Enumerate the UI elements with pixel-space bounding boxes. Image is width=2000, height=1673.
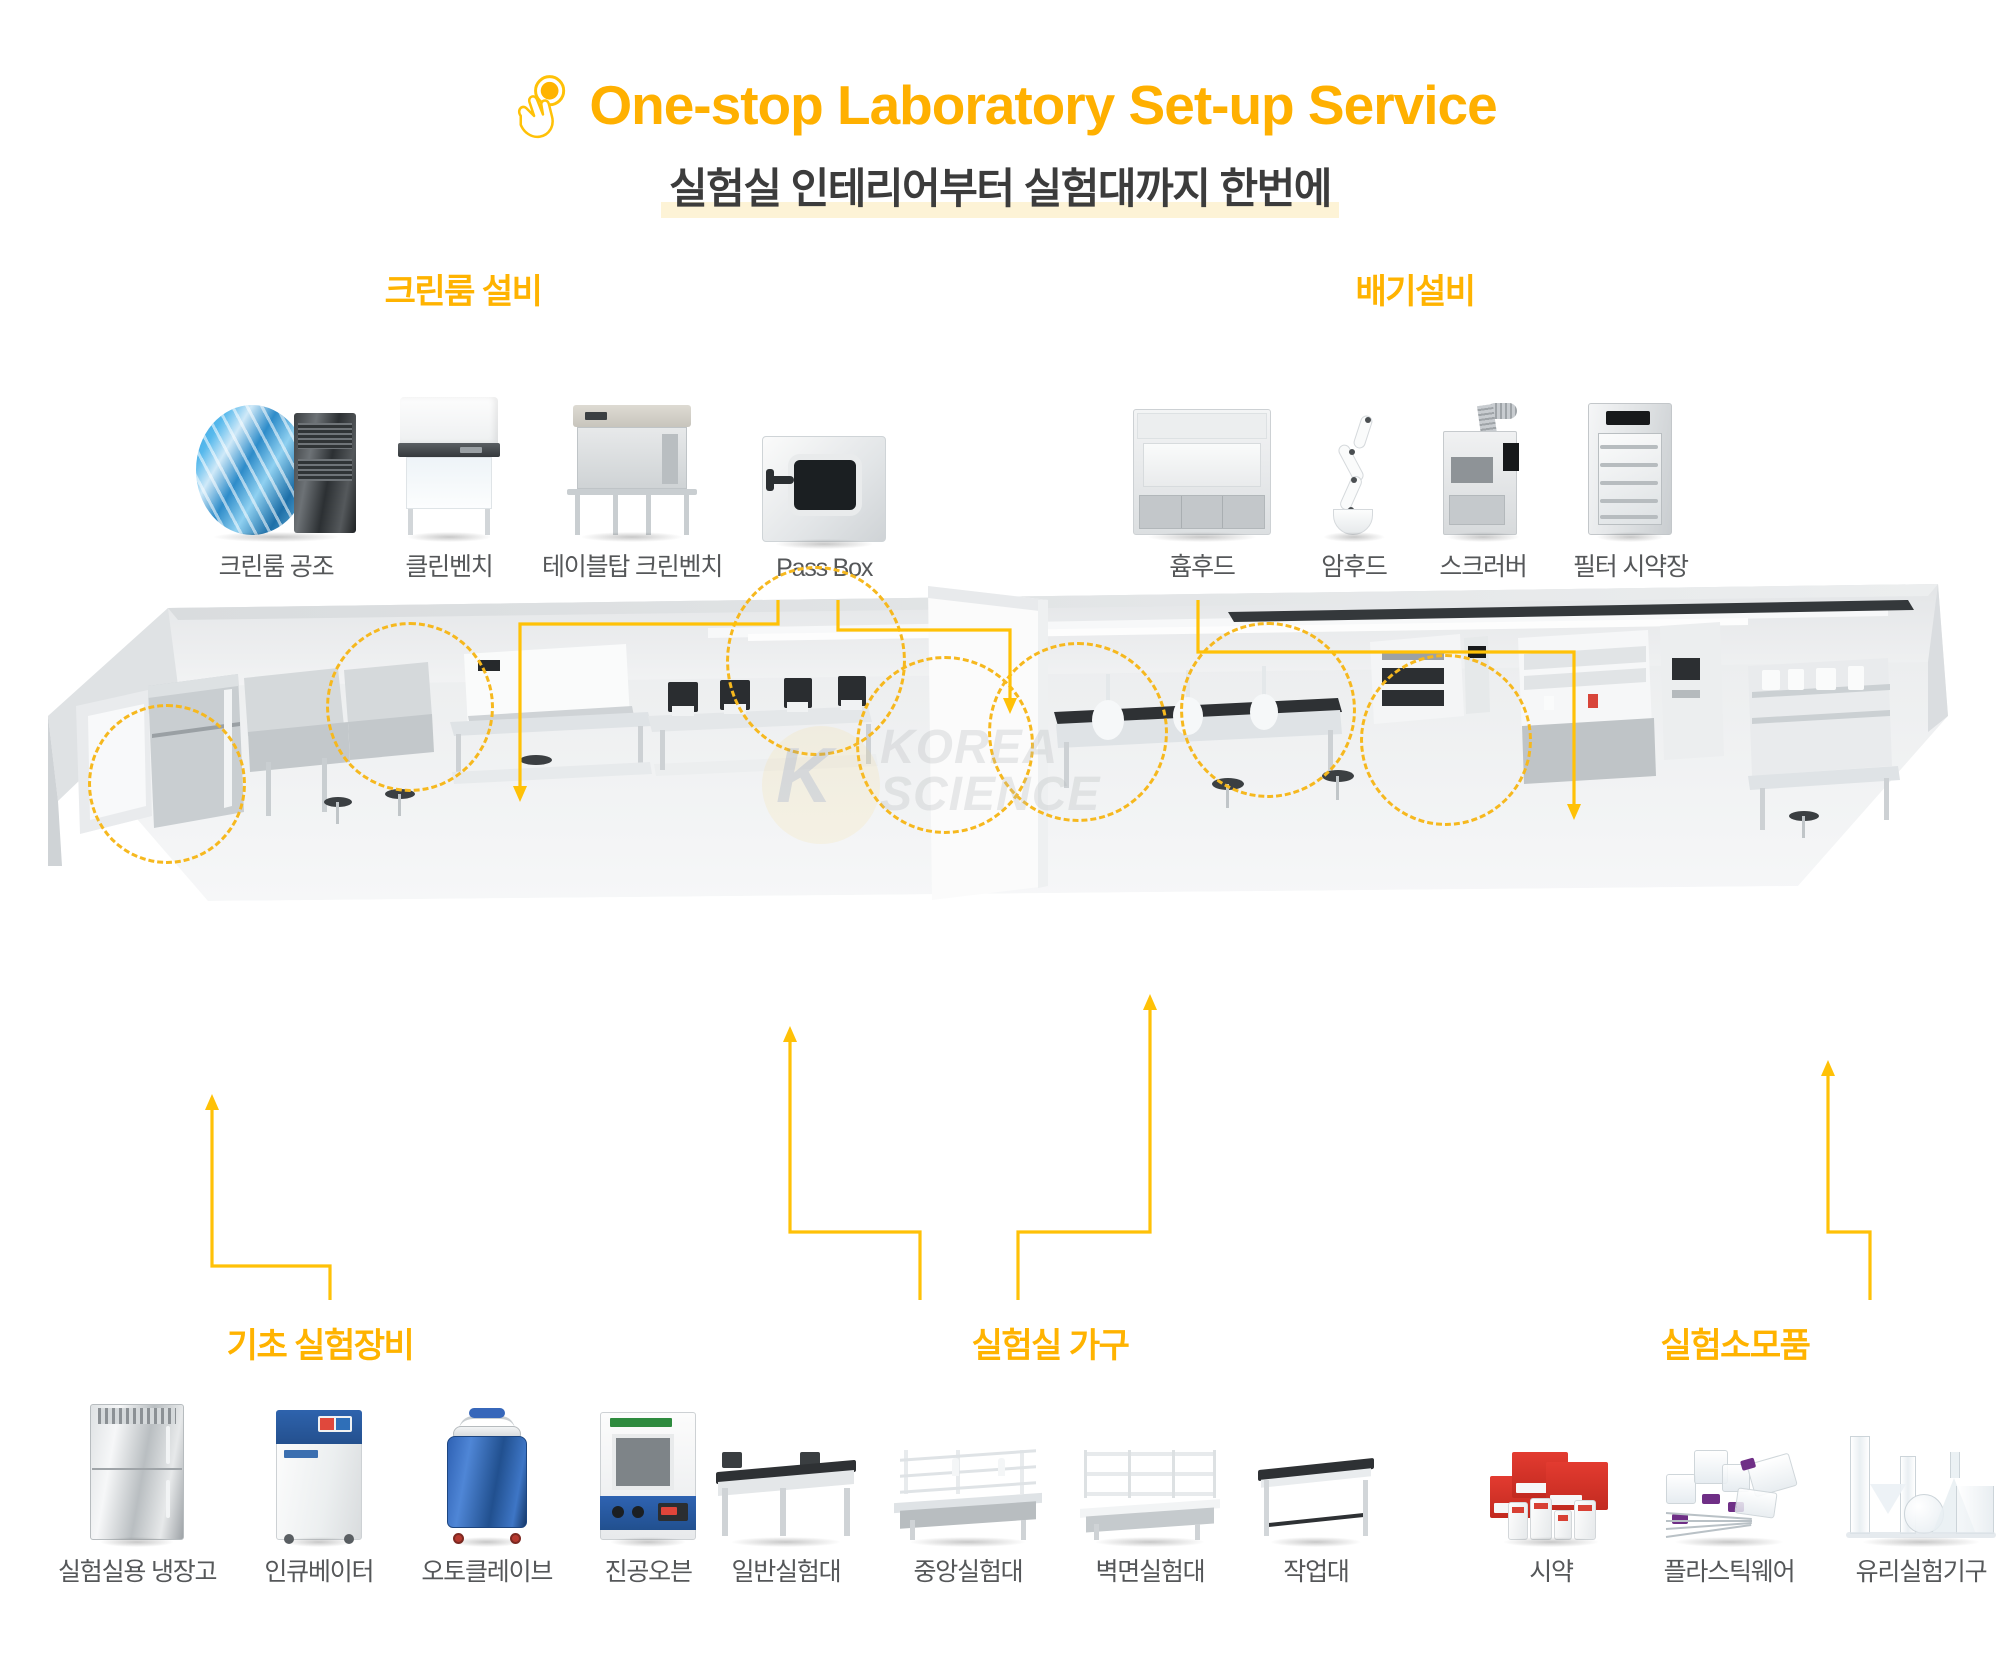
section-heading-exhaust: 배기설비 — [1355, 264, 1474, 313]
subtitle-row: 실험실 인테리어부터 실험대까지 한번에 — [0, 155, 2000, 218]
product-label: 중앙실험대 — [913, 1552, 1022, 1588]
highlight-circle-clean-bench — [326, 622, 494, 792]
lab-refrigerator-icon — [90, 1404, 184, 1540]
glassware-icon — [1846, 1430, 1996, 1540]
standard-lab-bench-icon — [716, 1452, 856, 1540]
group-furniture: 일반실험대 중앙실험대 — [716, 1410, 1374, 1588]
product-label: 작업대 — [1283, 1552, 1348, 1588]
incubator-icon — [276, 1410, 362, 1540]
vacuum-oven-icon — [600, 1412, 696, 1540]
highlight-circle-refrigerator — [88, 704, 246, 864]
section-heading-basic: 기초 실험장비 — [227, 1318, 414, 1367]
title-row: One-stop Laboratory Set-up Service — [0, 66, 2000, 144]
product-incubator[interactable]: 인큐베이터 — [264, 1400, 373, 1588]
product-arm-hood[interactable]: 암후드 — [1315, 395, 1393, 583]
infographic-canvas: One-stop Laboratory Set-up Service 실험실 인… — [0, 0, 2000, 1673]
product-label: 일반실험대 — [731, 1552, 840, 1588]
arm-hood-icon — [1315, 411, 1393, 535]
group-basic-equipment: 실험실용 냉장고 인큐베이터 오토클레이브 — [58, 1400, 696, 1588]
highlight-circle-fume-hood — [988, 642, 1168, 822]
page-title: One-stop Laboratory Set-up Service — [589, 78, 1496, 133]
product-label: 벽면실험대 — [1095, 1552, 1204, 1588]
product-clean-bench[interactable]: 클린벤치 — [396, 395, 502, 583]
cleanroom-ac-icon — [196, 405, 356, 535]
highlight-circle-consumables — [1360, 654, 1532, 826]
highlight-circle-filter-cabinet — [1180, 622, 1356, 798]
hand-click-icon — [503, 70, 577, 144]
product-reagent[interactable]: 시약 — [1490, 1400, 1612, 1588]
product-autoclave[interactable]: 오토클레이브 — [421, 1400, 552, 1588]
scrubber-icon — [1437, 405, 1529, 535]
product-work-table[interactable]: 작업대 — [1258, 1410, 1374, 1588]
group-consumables: 시약 플라스틱웨어 유리실험 — [1490, 1400, 1996, 1588]
product-plasticware[interactable]: 플라스틱웨어 — [1660, 1400, 1798, 1588]
group-exhaust: 흄후드 암후드 스크러버 — [1133, 395, 1688, 583]
plasticware-icon — [1660, 1434, 1798, 1540]
section-heading-furniture: 실험실 가구 — [972, 1318, 1129, 1367]
autoclave-icon — [443, 1406, 531, 1540]
reagent-icon — [1490, 1436, 1612, 1540]
section-heading-cleanroom: 크린룸 설비 — [385, 264, 542, 313]
product-tabletop-clean-bench[interactable]: 테이블탑 크린벤치 — [542, 395, 722, 583]
product-wall-bench[interactable]: 벽면실험대 — [1080, 1410, 1220, 1588]
wall-lab-bench-icon — [1080, 1446, 1220, 1540]
product-glassware[interactable]: 유리실험기구 — [1846, 1400, 1996, 1588]
product-label: 진공오븐 — [605, 1552, 692, 1588]
island-lab-bench-icon — [894, 1444, 1042, 1540]
product-standard-bench[interactable]: 일반실험대 — [716, 1410, 856, 1588]
product-fume-hood[interactable]: 흄후드 — [1133, 395, 1271, 583]
fume-hood-icon — [1133, 409, 1271, 535]
product-pass-box[interactable]: Pass Box — [762, 402, 886, 583]
product-label: 오토클레이브 — [421, 1552, 552, 1588]
product-lab-refrigerator[interactable]: 실험실용 냉장고 — [58, 1400, 216, 1588]
tabletop-clean-bench-icon — [567, 405, 697, 535]
product-scrubber[interactable]: 스크러버 — [1437, 395, 1529, 583]
product-island-bench[interactable]: 중앙실험대 — [894, 1410, 1042, 1588]
product-filter-reagent-cabinet[interactable]: 필터 시약장 — [1573, 395, 1688, 583]
product-label: 유리실험기구 — [1856, 1552, 1987, 1588]
section-heading-consumables: 실험소모품 — [1661, 1318, 1810, 1367]
pass-box-icon — [762, 436, 886, 542]
product-vacuum-oven[interactable]: 진공오븐 — [600, 1400, 696, 1588]
product-label: 시약 — [1529, 1552, 1573, 1588]
work-table-icon — [1258, 1456, 1374, 1540]
clean-bench-icon — [396, 397, 502, 535]
product-label: 실험실용 냉장고 — [58, 1552, 216, 1588]
product-cleanroom-ac[interactable]: 크린룸 공조 — [196, 395, 356, 583]
group-cleanroom: 크린룸 공조 클린벤치 테이블탑 크린벤치 — [196, 395, 886, 583]
product-label: 인큐베이터 — [264, 1552, 373, 1588]
filter-reagent-cabinet-icon — [1588, 403, 1672, 535]
product-label: 플라스틱웨어 — [1664, 1552, 1795, 1588]
lab-room-render — [48, 566, 1948, 916]
page-subtitle: 실험실 인테리어부터 실험대까지 한번에 — [661, 155, 1339, 218]
